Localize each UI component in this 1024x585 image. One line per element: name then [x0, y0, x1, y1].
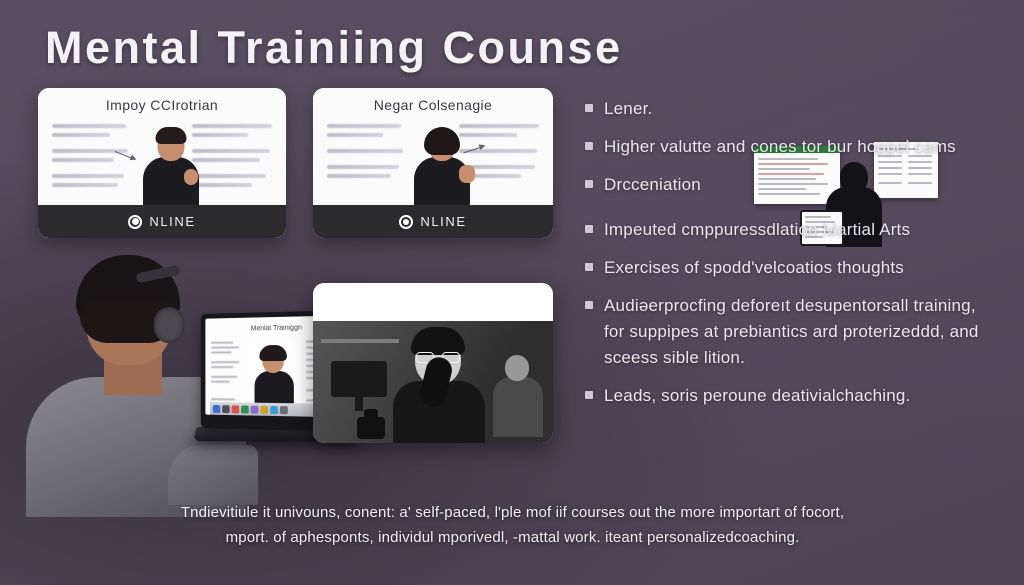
- card-2-text-left: [327, 124, 405, 183]
- list-item-label: Lener.: [604, 96, 652, 122]
- hand-icon: [184, 169, 198, 185]
- caption-line-2: mport. of aphesponts, individul mporived…: [60, 525, 965, 550]
- slide-caption: Tndievitiule it univouns, conent: a' sel…: [60, 500, 965, 550]
- slide-canvas: Mental Trainiing Counse Impoy CCIrotrian: [0, 0, 1024, 585]
- list-item-label: Leads, soris peroune deativialchaching.: [604, 383, 910, 409]
- list-item-label: Exercises of spodd'velcoatios thoughts: [604, 255, 904, 281]
- square-bullet-icon: [585, 391, 593, 399]
- caption-line-1: Tndievitiule it univouns, conent: a' sel…: [60, 500, 965, 525]
- camera-icon: [357, 417, 385, 439]
- monitor-icon: [331, 361, 387, 397]
- square-bullet-icon: [585, 263, 593, 271]
- list-item[interactable]: Exercises of spodd'velcoatios thoughts: [585, 255, 985, 281]
- card-1-footer[interactable]: NLINE: [38, 205, 286, 238]
- dock-icon[interactable]: [260, 405, 268, 413]
- dock-icon[interactable]: [222, 405, 230, 413]
- list-item[interactable]: Higher valutte and cones tor bur hoppel …: [585, 134, 985, 160]
- card-1-footer-label: NLINE: [149, 214, 195, 229]
- dock-icon[interactable]: [213, 405, 220, 413]
- page-title: Mental Trainiing Counse: [45, 22, 623, 74]
- card-2-person-photo: [405, 127, 479, 205]
- list-item-label: Impeuted cmppuressdlation Martial Arts: [604, 217, 910, 243]
- background-person: [491, 355, 545, 437]
- laptop-slide-photo: [247, 343, 300, 406]
- card-1-title: Impoy CCIrotrian: [38, 97, 286, 113]
- square-bullet-icon: [585, 142, 593, 150]
- course-card-1[interactable]: Impoy CCIrotrian: [38, 88, 286, 238]
- list-item[interactable]: Audiəerprocfing deforeıt desupentorsall …: [585, 293, 985, 371]
- list-item[interactable]: Impeuted cmppuressdlation Martial Arts: [585, 217, 985, 243]
- dock-icon[interactable]: [232, 405, 240, 413]
- card-2-footer[interactable]: NLINE: [313, 205, 553, 238]
- dock-icon[interactable]: [280, 406, 288, 414]
- circle-play-icon: [128, 215, 142, 229]
- list-item[interactable]: Lener.: [585, 96, 985, 122]
- square-bullet-icon: [585, 104, 593, 112]
- dock-icon[interactable]: [270, 405, 278, 413]
- square-bullet-icon: [585, 301, 593, 309]
- card-1-person-photo: [134, 127, 208, 205]
- list-item-label: Audiəerprocfing deforeıt desupentorsall …: [604, 293, 985, 371]
- list-item[interactable]: Leads, soris peroune deativialchaching.: [585, 383, 985, 409]
- square-bullet-icon: [585, 180, 593, 188]
- square-bullet-icon: [585, 225, 593, 233]
- card-1-text-left: [52, 124, 130, 192]
- card-3-photo: [313, 321, 553, 443]
- feature-bullet-list: Lener. Higher valutte and cones tor bur …: [585, 96, 985, 421]
- dock-icon[interactable]: [241, 405, 249, 413]
- hand-icon: [459, 165, 475, 183]
- dock-icon[interactable]: [251, 405, 259, 413]
- course-card-3[interactable]: [313, 283, 553, 443]
- list-item-label: Higher valutte and cones tor bur hoppel …: [604, 134, 956, 160]
- card-2-footer-label: NLINE: [420, 214, 466, 229]
- card-2-title: Negar Colsenagie: [313, 97, 553, 113]
- list-item[interactable]: Drcceniation: [585, 172, 985, 198]
- circle-record-icon: [399, 215, 413, 229]
- list-item-label: Drcceniation: [604, 172, 701, 198]
- course-card-2[interactable]: Negar Colsenagie: [313, 88, 553, 238]
